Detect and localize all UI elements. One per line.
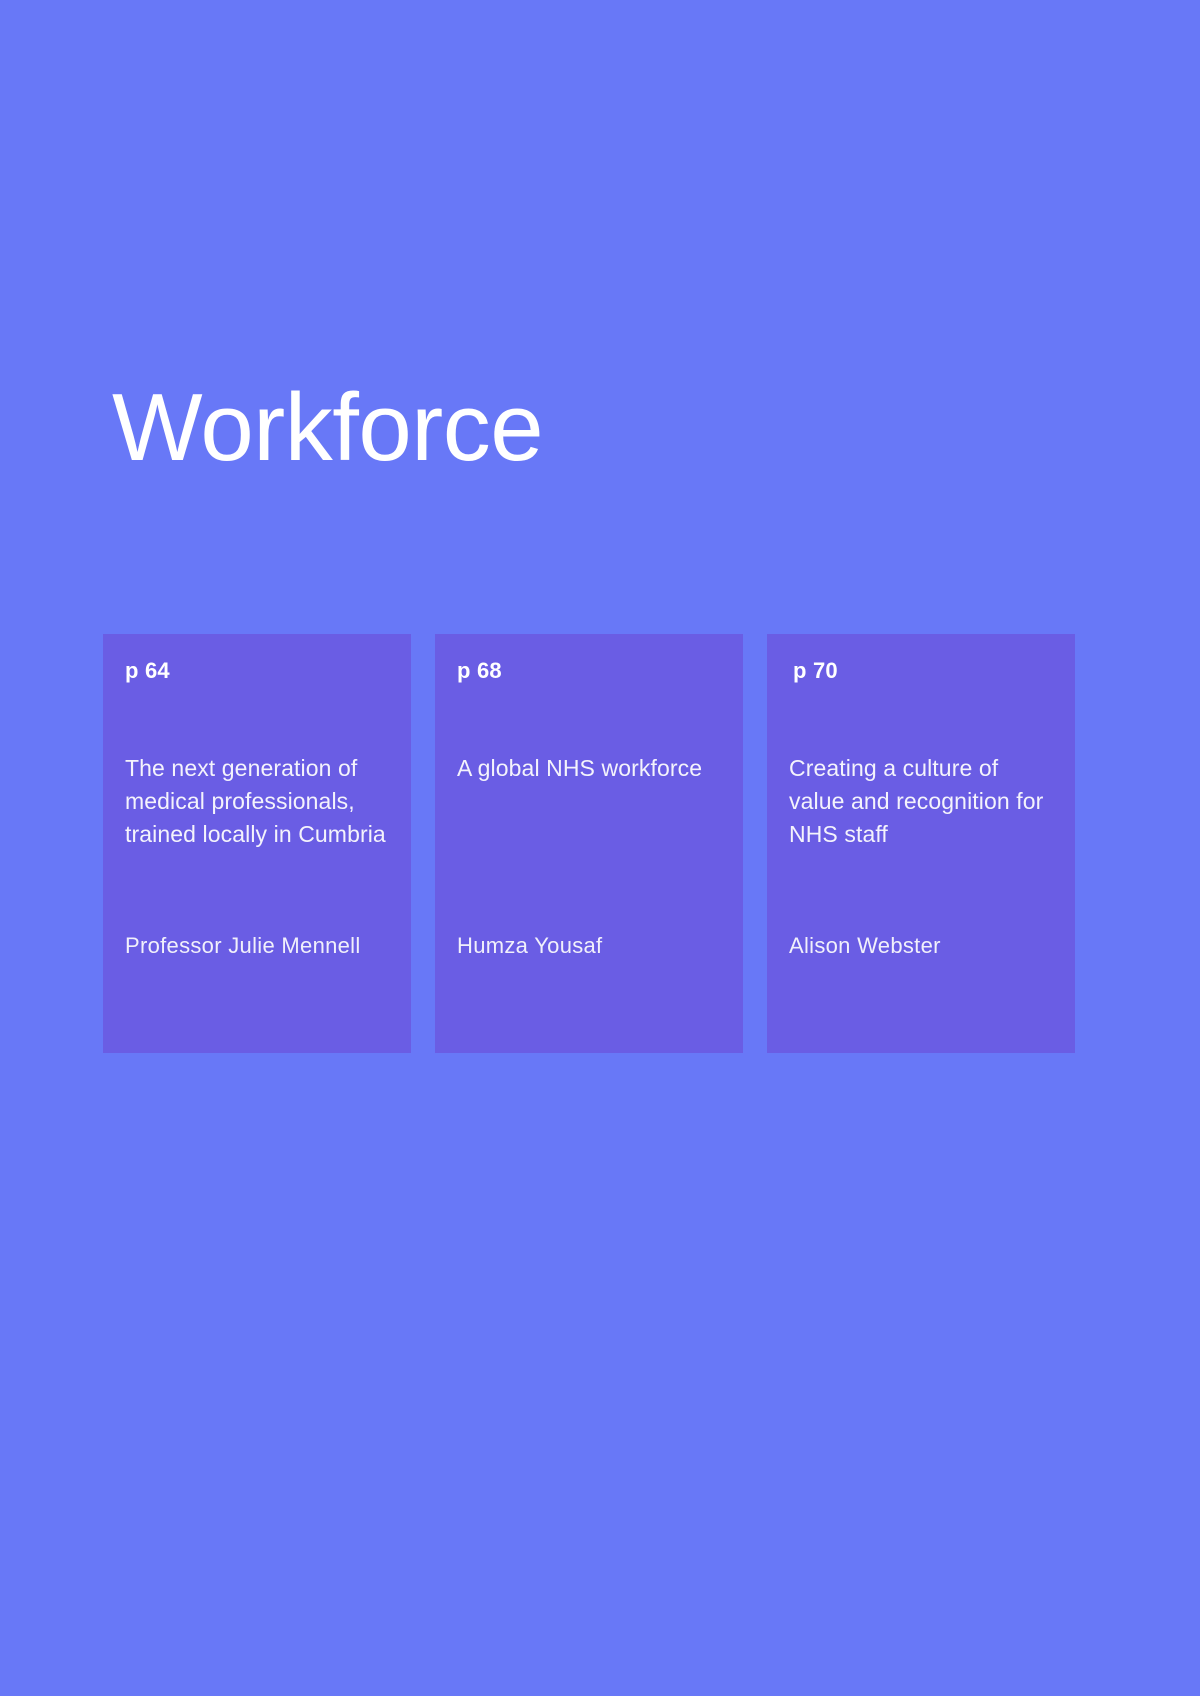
page-background: Workforce p 64 The next generation of me… [0, 0, 1200, 1696]
article-card[interactable]: p 70 Creating a culture of value and rec… [767, 634, 1075, 1053]
card-spacer [789, 851, 1053, 931]
card-author: Humza Yousaf [457, 931, 721, 1053]
card-spacer [457, 785, 721, 931]
card-author: Alison Webster [789, 931, 1053, 1053]
card-title: Creating a culture of value and recognit… [789, 752, 1053, 851]
card-page-number: p 68 [457, 656, 721, 686]
article-card[interactable]: p 64 The next generation of medical prof… [103, 634, 411, 1053]
article-card[interactable]: p 68 A global NHS workforce Humza Yousaf [435, 634, 743, 1053]
card-author: Professor Julie Mennell [125, 931, 389, 1053]
card-title: A global NHS workforce [457, 752, 721, 785]
card-title: The next generation of medical professio… [125, 752, 389, 851]
card-spacer [125, 851, 389, 931]
article-card-row: p 64 The next generation of medical prof… [103, 634, 1075, 1053]
card-page-number: p 70 [789, 656, 1053, 686]
page-title: Workforce [112, 376, 543, 480]
card-page-number: p 64 [125, 656, 389, 686]
